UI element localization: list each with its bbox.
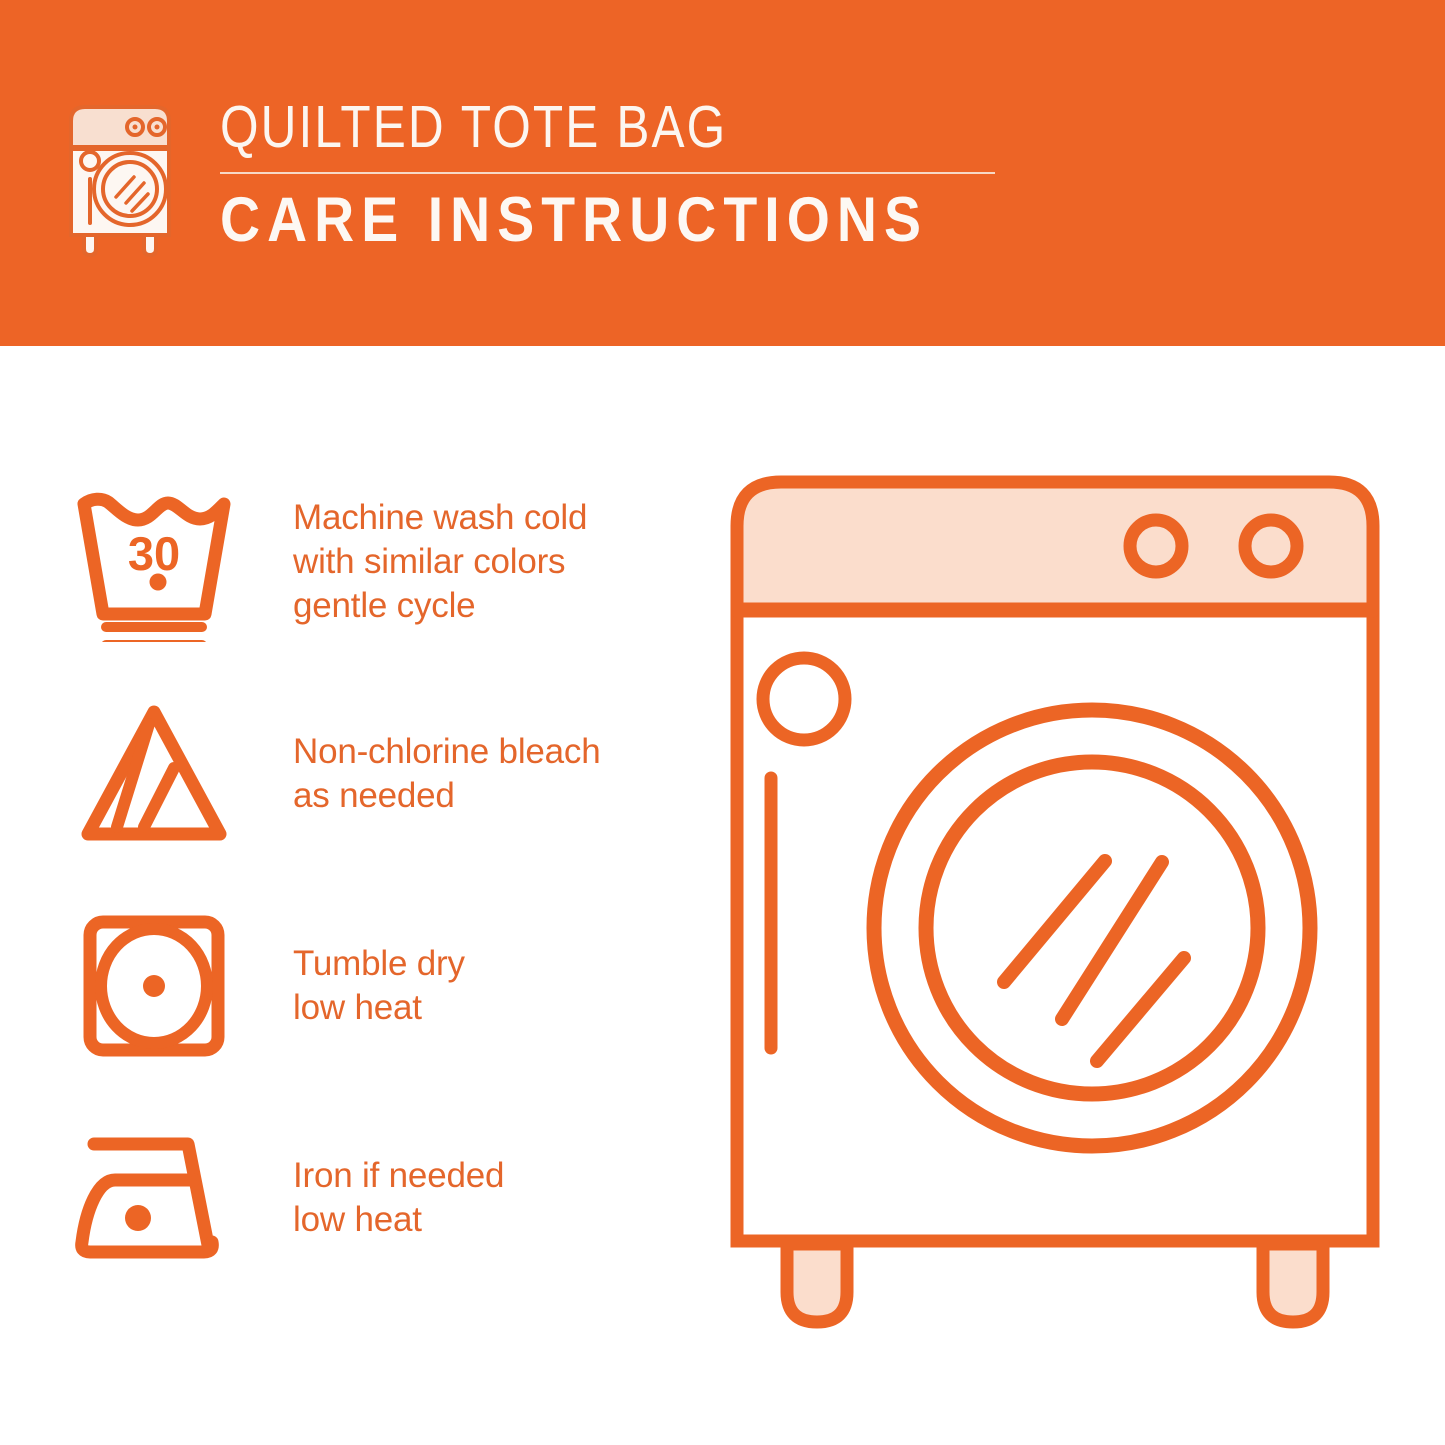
list-item: Tumble dry low heat bbox=[70, 900, 680, 1072]
page-title: QUILTED TOTE BAG bbox=[220, 96, 1196, 158]
list-item-label: Machine wash cold with similar colors ge… bbox=[293, 496, 587, 628]
care-instruction-list: 30 Machine wash cold with similar colors… bbox=[70, 476, 680, 1284]
list-item-label: Non-chlorine bleach as needed bbox=[293, 730, 601, 818]
list-item: Non-chlorine bleach as needed bbox=[70, 688, 680, 860]
list-item-label: Tumble dry low heat bbox=[293, 942, 465, 1030]
header-banner: QUILTED TOTE BAG CARE INSTRUCTIONS bbox=[0, 0, 1445, 346]
header-content: QUILTED TOTE BAG CARE INSTRUCTIONS bbox=[62, 96, 1382, 276]
list-item-label: Iron if needed low heat bbox=[293, 1154, 504, 1242]
tumble-dry-low-icon bbox=[70, 906, 238, 1066]
non-chlorine-bleach-triangle-icon bbox=[70, 694, 238, 854]
wash-temp-value: 30 bbox=[128, 527, 180, 580]
main-content: 30 Machine wash cold with similar colors… bbox=[0, 346, 1445, 1445]
page-subtitle: CARE INSTRUCTIONS bbox=[220, 187, 1243, 253]
control-panel bbox=[737, 482, 1373, 611]
leg-right bbox=[1263, 1244, 1323, 1322]
wash-tub-30-gentle-icon: 30 bbox=[70, 482, 238, 642]
header-title-block: QUILTED TOTE BAG CARE INSTRUCTIONS bbox=[220, 96, 1382, 253]
title-divider bbox=[220, 172, 995, 174]
list-item: Iron if needed low heat bbox=[70, 1112, 680, 1284]
washing-machine-icon bbox=[62, 101, 178, 261]
leg-left bbox=[787, 1244, 847, 1322]
front-load-washing-machine bbox=[715, 466, 1395, 1366]
iron-low-heat-icon bbox=[70, 1118, 238, 1278]
list-item: 30 Machine wash cold with similar colors… bbox=[70, 476, 680, 648]
